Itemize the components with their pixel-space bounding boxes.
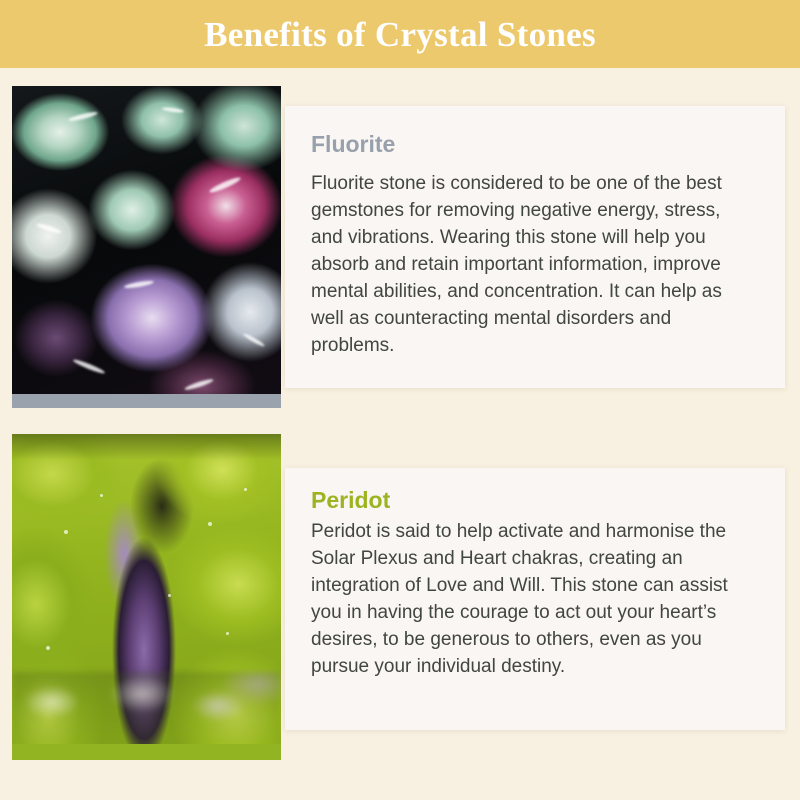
crystal-speck	[226, 632, 229, 635]
page-header: Benefits of Crystal Stones	[0, 0, 800, 68]
peridot-text-panel: Peridot Peridot is said to help activate…	[285, 468, 785, 730]
fluorite-stones-photo	[12, 86, 281, 408]
crystal-speck	[244, 488, 247, 491]
highlight-streak	[208, 175, 242, 194]
page-title: Benefits of Crystal Stones	[204, 17, 596, 52]
crystal-speck	[208, 522, 212, 526]
crystal-card-fluorite: Fluorite Fluorite stone is considered to…	[12, 86, 785, 408]
highlight-streak	[184, 377, 214, 391]
crystal-card-peridot: Peridot Peridot is said to help activate…	[12, 434, 785, 760]
fluorite-description: Fluorite stone is considered to be one o…	[311, 171, 755, 360]
fluorite-heading: Fluorite	[311, 132, 755, 157]
crystal-speck	[100, 494, 103, 497]
fluorite-text-panel: Fluorite Fluorite stone is considered to…	[285, 106, 785, 388]
fluorite-photo-image	[12, 86, 281, 408]
peridot-heading: Peridot	[311, 488, 755, 513]
highlight-streak	[124, 279, 154, 289]
crystal-speck	[64, 530, 68, 534]
highlight-streak	[72, 358, 105, 375]
highlight-streak	[68, 110, 98, 122]
peridot-photo-bottom-bar	[12, 744, 281, 760]
peridot-photo-image	[12, 434, 281, 760]
highlight-streak	[36, 222, 62, 235]
crystal-speck	[46, 646, 50, 650]
highlight-streak	[243, 332, 266, 347]
peridot-crystal-photo	[12, 434, 281, 760]
photo-bottom-blur	[12, 672, 281, 744]
photo-top-shade	[12, 434, 281, 460]
crystal-speck	[168, 594, 171, 597]
fluorite-photo-bottom-bar	[12, 394, 281, 408]
highlight-streak	[162, 106, 184, 113]
peridot-description: Peridot is said to help activate and har…	[311, 519, 755, 681]
